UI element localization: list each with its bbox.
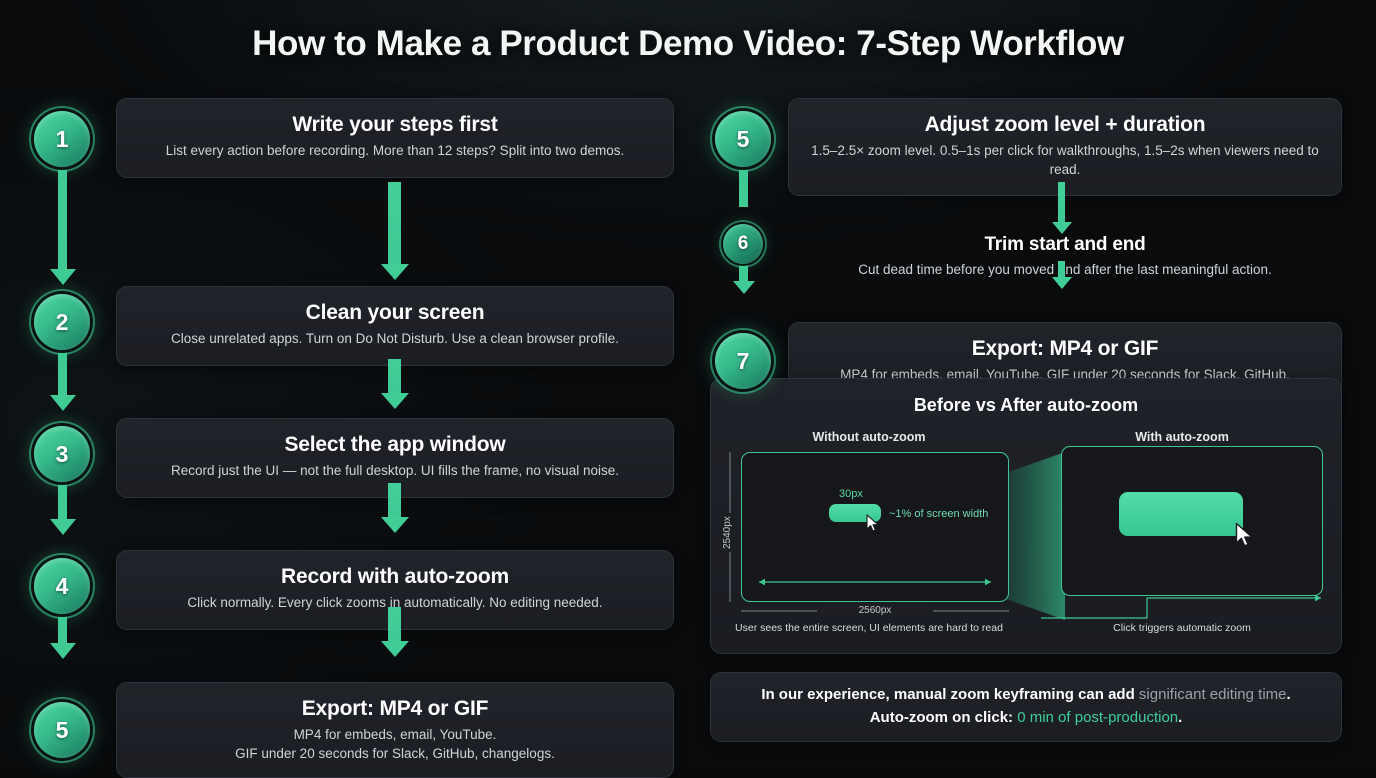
step-badge-r5: 5 bbox=[715, 111, 771, 167]
step-desc-5-line1: MP4 for embeds, email, YouTube. bbox=[135, 726, 655, 745]
left-column: 1 Write your steps first List every acti… bbox=[34, 98, 674, 778]
step-badge-r6: 6 bbox=[723, 224, 763, 264]
step-row-3: 3 Select the app window Record just the … bbox=[34, 418, 674, 500]
comparison-panel: Before vs After auto-zoom Without auto-z… bbox=[710, 378, 1342, 654]
with-caption: Click triggers automatic zoom bbox=[1041, 622, 1323, 634]
step-desc-3: Record just the UI — not the full deskto… bbox=[135, 462, 655, 481]
step-title-3: Select the app window bbox=[135, 433, 655, 457]
step-badge-4: 4 bbox=[34, 558, 90, 614]
step-title-4: Record with auto-zoom bbox=[135, 565, 655, 589]
with-auto-zoom-label: With auto-zoom bbox=[1041, 430, 1323, 444]
without-height-dim-label: 2540px bbox=[722, 513, 733, 552]
step-desc-2: Close unrelated apps. Turn on Do Not Dis… bbox=[135, 330, 655, 349]
without-caption: User sees the entire screen, UI elements… bbox=[719, 622, 1019, 634]
infographic-page: How to Make a Product Demo Video: 7-Step… bbox=[0, 0, 1376, 768]
note-line1-highlight: significant editing time bbox=[1139, 686, 1287, 703]
step-title-r6: Trim start and end bbox=[806, 234, 1324, 256]
step-badge-2: 2 bbox=[34, 294, 90, 350]
step-title-1: Write your steps first bbox=[135, 113, 655, 137]
step-badge-1: 1 bbox=[34, 111, 90, 167]
step-row-4: 4 Record with auto-zoom Click normally. … bbox=[34, 550, 674, 632]
right-column: 5 Adjust zoom level + duration 1.5–2.5× … bbox=[710, 98, 1342, 400]
connector-arrow-r5-r6 bbox=[1058, 182, 1065, 224]
with-zoom-bracket bbox=[1037, 590, 1327, 624]
element-size-label: 30px bbox=[839, 488, 863, 500]
step-badge-3: 3 bbox=[34, 426, 90, 482]
connector-spine-r5-r6 bbox=[739, 167, 748, 207]
step-card-1: Write your steps first List every action… bbox=[116, 98, 674, 178]
step-title-2: Clean your screen bbox=[135, 301, 655, 325]
element-note-label: ~1% of screen width bbox=[889, 508, 988, 520]
step-row-1: 1 Write your steps first List every acti… bbox=[34, 98, 674, 180]
connector-arrow-2-3 bbox=[388, 359, 401, 395]
note-line2-lead: Auto-zoom on click: bbox=[870, 709, 1018, 726]
step-desc-1: List every action before recording. More… bbox=[135, 142, 655, 161]
ui-element-pill-zoomed bbox=[1119, 492, 1243, 536]
step-row-5: 5 Export: MP4 or GIF MP4 for embeds, ema… bbox=[34, 682, 674, 778]
step-card-2: Clean your screen Close unrelated apps. … bbox=[116, 286, 674, 366]
step-row-r5: 5 Adjust zoom level + duration 1.5–2.5× … bbox=[710, 98, 1342, 180]
comparison-body: Without auto-zoom 2540px 30px ~1% of scr… bbox=[711, 430, 1341, 634]
note-line1-tail: . bbox=[1287, 686, 1291, 703]
step-card-5: Export: MP4 or GIF MP4 for embeds, email… bbox=[116, 682, 674, 778]
step-badge-r7: 7 bbox=[715, 333, 771, 389]
mouse-cursor-small bbox=[866, 514, 882, 534]
step-title-5: Export: MP4 or GIF bbox=[135, 697, 655, 721]
step-card-r5: Adjust zoom level + duration 1.5–2.5× zo… bbox=[788, 98, 1342, 196]
note-line-1: In our experience, manual zoom keyframin… bbox=[727, 684, 1325, 707]
without-width-arrow bbox=[753, 576, 997, 588]
step-row-r6: 6 Trim start and end Cut dead time befor… bbox=[710, 220, 1342, 278]
step-desc-r5: 1.5–2.5× zoom level. 0.5–1s per click fo… bbox=[807, 142, 1323, 179]
mouse-cursor-large bbox=[1235, 522, 1257, 550]
connector-arrow-3-4 bbox=[388, 483, 401, 519]
step-title-r7: Export: MP4 or GIF bbox=[807, 337, 1323, 361]
comparison-title: Before vs After auto-zoom bbox=[711, 395, 1341, 416]
connector-spine-2-3 bbox=[58, 349, 67, 397]
connector-arrow-r6-r7 bbox=[1058, 261, 1065, 279]
step-badge-5: 5 bbox=[34, 702, 90, 758]
connector-spine-1-2 bbox=[58, 167, 67, 271]
without-auto-zoom-label: Without auto-zoom bbox=[729, 430, 1009, 444]
footer-note: In our experience, manual zoom keyframin… bbox=[710, 672, 1342, 742]
step-desc-5-line2: GIF under 20 seconds for Slack, GitHub, … bbox=[135, 745, 655, 764]
note-line2-highlight: 0 min of post-production bbox=[1017, 709, 1178, 726]
without-width-dim-label: 2560px bbox=[817, 604, 933, 617]
note-line2-tail: . bbox=[1178, 709, 1182, 726]
note-line-2: Auto-zoom on click: 0 min of post-produc… bbox=[727, 707, 1325, 730]
connector-arrow-4-5 bbox=[388, 607, 401, 643]
page-title: How to Make a Product Demo Video: 7-Step… bbox=[0, 24, 1376, 64]
step-row-2: 2 Clean your screen Close unrelated apps… bbox=[34, 286, 674, 368]
step-title-r5: Adjust zoom level + duration bbox=[807, 113, 1323, 137]
connector-arrow-1-2 bbox=[388, 182, 401, 266]
note-line1-lead: In our experience, manual zoom keyframin… bbox=[761, 686, 1139, 703]
